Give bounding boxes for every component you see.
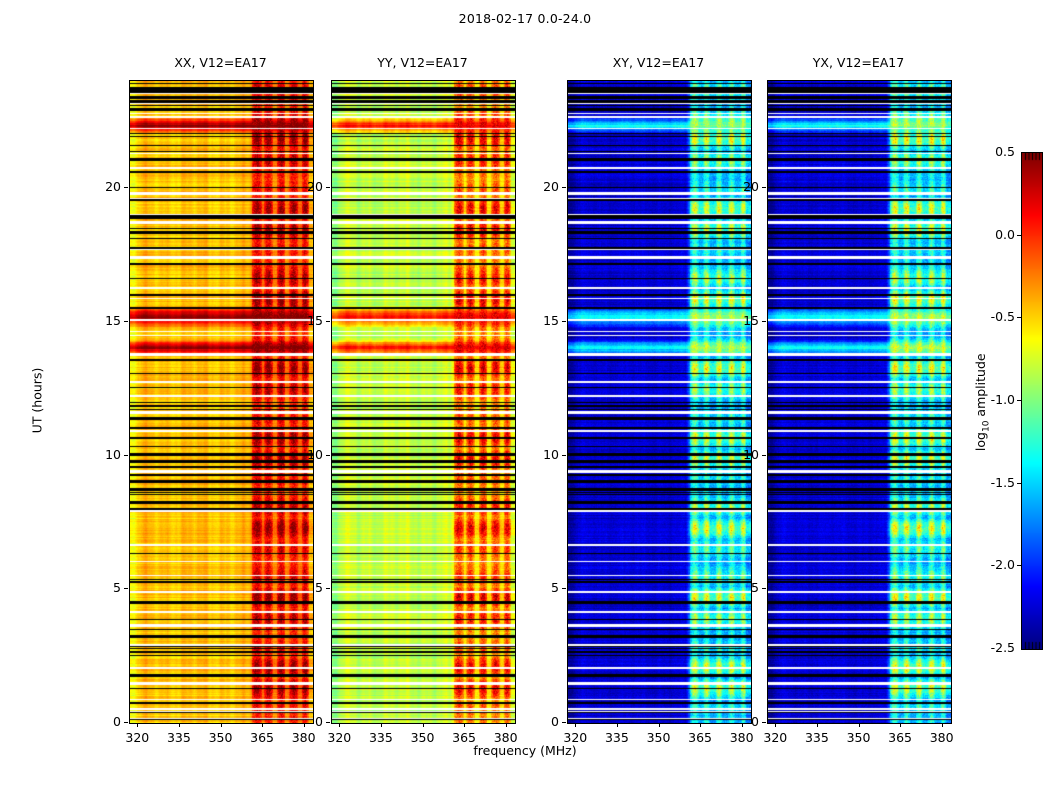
colorbar-tick-label: -0.5	[975, 309, 1015, 324]
y-tick-mark	[326, 722, 330, 723]
x-tick-mark	[817, 723, 818, 727]
y-tick-mark	[762, 321, 766, 322]
colorbar-tick-label: -2.0	[975, 557, 1015, 572]
heatmap-image-xy	[568, 81, 751, 723]
heatmap-image-yx	[768, 81, 951, 723]
y-tick-label: 0	[715, 714, 759, 729]
colorbar-tick-label: 0.0	[975, 227, 1015, 242]
y-tick-label: 20	[77, 179, 121, 194]
y-tick-label: 0	[77, 714, 121, 729]
y-tick-label: 5	[715, 580, 759, 595]
colorbar-tick-mark	[1017, 483, 1021, 484]
x-tick-mark	[464, 723, 465, 727]
heatmap-image-xx	[130, 81, 313, 723]
colorbar-tick-label: -2.5	[975, 640, 1015, 655]
y-tick-mark	[562, 722, 566, 723]
y-tick-label: 15	[279, 313, 323, 328]
y-tick-label: 5	[515, 580, 559, 595]
y-tick-label: 10	[515, 447, 559, 462]
panel-title-xy: XY, V12=EA17	[567, 55, 750, 70]
y-tick-label: 15	[515, 313, 559, 328]
x-tick-mark	[381, 723, 382, 727]
y-tick-mark	[124, 321, 128, 322]
colorbar-tick-mark	[1017, 400, 1021, 401]
y-tick-mark	[124, 187, 128, 188]
x-tick-mark	[617, 723, 618, 727]
y-tick-label: 5	[77, 580, 121, 595]
y-tick-label: 10	[279, 447, 323, 462]
colorbar	[1021, 152, 1043, 650]
heatmap-panel-yx[interactable]	[767, 80, 952, 724]
colorbar-gradient	[1022, 153, 1042, 649]
y-tick-label: 5	[279, 580, 323, 595]
panel-title-yy: YY, V12=EA17	[331, 55, 514, 70]
x-tick-mark	[506, 723, 507, 727]
colorbar-tick-mark	[1017, 565, 1021, 566]
y-tick-label: 20	[279, 179, 323, 194]
y-tick-label: 10	[715, 447, 759, 462]
y-tick-label: 10	[77, 447, 121, 462]
x-tick-mark	[859, 723, 860, 727]
x-tick-mark	[339, 723, 340, 727]
y-tick-mark	[124, 455, 128, 456]
y-axis-label: UT (hours)	[30, 331, 45, 471]
colorbar-tick-label: -1.5	[975, 475, 1015, 490]
x-tick-mark	[221, 723, 222, 727]
y-tick-mark	[562, 588, 566, 589]
figure-suptitle: 2018-02-17 0.0-24.0	[0, 11, 1050, 26]
x-tick-mark	[942, 723, 943, 727]
y-tick-mark	[762, 455, 766, 456]
y-tick-label: 15	[715, 313, 759, 328]
y-tick-mark	[124, 722, 128, 723]
colorbar-tick-label: 0.5	[975, 144, 1015, 159]
heatmap-image-yy	[332, 81, 515, 723]
y-tick-label: 20	[515, 179, 559, 194]
panel-title-yx: YX, V12=EA17	[767, 55, 950, 70]
y-tick-label: 0	[279, 714, 323, 729]
y-tick-mark	[762, 187, 766, 188]
x-tick-mark	[423, 723, 424, 727]
heatmap-panel-xx[interactable]	[129, 80, 314, 724]
y-tick-label: 20	[715, 179, 759, 194]
x-tick-mark	[262, 723, 263, 727]
y-tick-mark	[562, 321, 566, 322]
y-tick-mark	[326, 455, 330, 456]
y-tick-mark	[326, 187, 330, 188]
heatmap-panel-yy[interactable]	[331, 80, 516, 724]
y-tick-label: 15	[77, 313, 121, 328]
figure-canvas: 2018-02-17 0.0-24.0 XX, V12=EA1732033535…	[0, 0, 1050, 800]
heatmap-panel-xy[interactable]	[567, 80, 752, 724]
x-tick-mark	[137, 723, 138, 727]
x-tick-mark	[575, 723, 576, 727]
y-tick-mark	[762, 588, 766, 589]
y-tick-mark	[562, 455, 566, 456]
y-tick-label: 0	[515, 714, 559, 729]
panel-title-xx: XX, V12=EA17	[129, 55, 312, 70]
x-tick-mark	[700, 723, 701, 727]
x-tick-mark	[659, 723, 660, 727]
colorbar-tick-mark	[1017, 235, 1021, 236]
y-tick-mark	[762, 722, 766, 723]
y-tick-mark	[326, 321, 330, 322]
y-tick-mark	[562, 187, 566, 188]
colorbar-label: log10 amplitude	[973, 332, 992, 472]
y-tick-mark	[326, 588, 330, 589]
colorbar-tick-mark	[1017, 317, 1021, 318]
x-tick-mark	[775, 723, 776, 727]
y-tick-mark	[124, 588, 128, 589]
x-tick-mark	[179, 723, 180, 727]
x-axis-label: frequency (MHz)	[0, 743, 1050, 758]
x-tick-mark	[900, 723, 901, 727]
